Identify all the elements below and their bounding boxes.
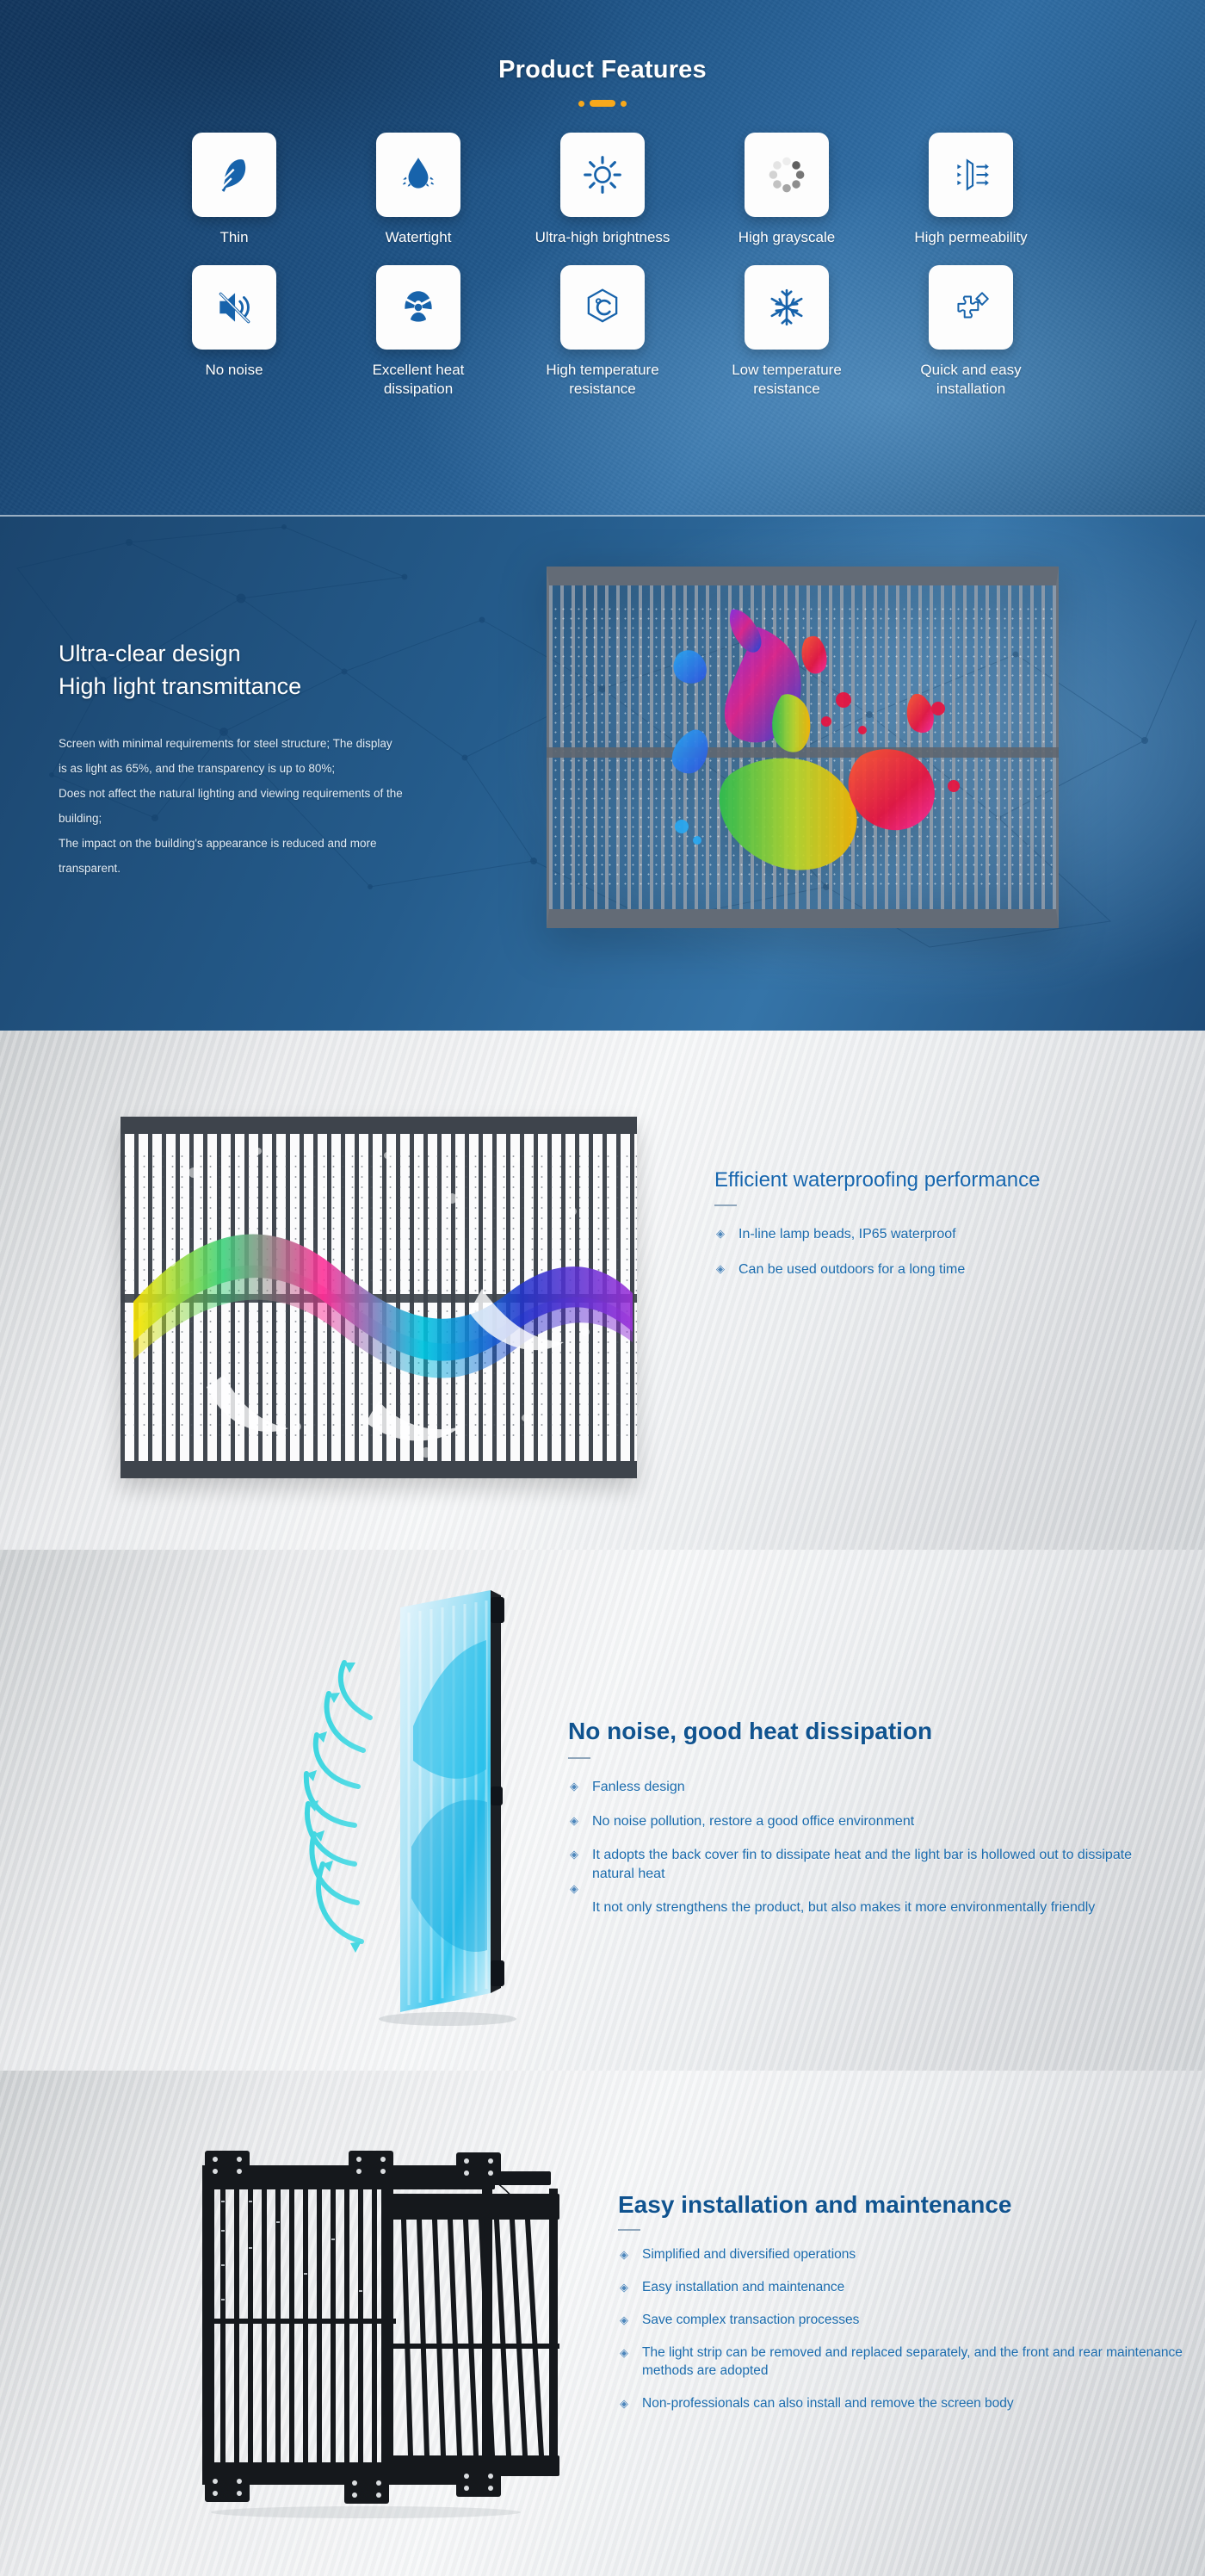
paint-splash-graphic bbox=[628, 601, 998, 898]
feature-card bbox=[192, 265, 276, 350]
list-item: ◈ Save complex transaction processes bbox=[618, 2312, 1186, 2330]
bullet-text: Easy installation and maintenance bbox=[642, 2280, 844, 2294]
title-decoration bbox=[0, 100, 1205, 107]
body-line: The impact on the building's appearance … bbox=[59, 831, 575, 856]
led-cabinet-frame bbox=[172, 2118, 559, 2523]
feature-card bbox=[745, 265, 829, 350]
celsius-hexagon-icon bbox=[581, 286, 624, 329]
feature-label: High permeability bbox=[914, 228, 1027, 246]
installation-text-block: Easy installation and maintenance ◈ Simp… bbox=[618, 2191, 1186, 2428]
list-item: ◈ Easy installation and maintenance bbox=[618, 2279, 1186, 2297]
ultra-clear-heading-line1: Ultra-clear design bbox=[59, 637, 575, 670]
feature-label: High temperature resistance bbox=[528, 361, 678, 398]
diamond-bullet-icon: ◈ bbox=[570, 1881, 578, 1897]
feature-item-high-grayscale[interactable]: High grayscale bbox=[695, 133, 879, 246]
puzzle-piece-icon bbox=[949, 286, 992, 329]
feature-label: High grayscale bbox=[738, 228, 835, 246]
feature-item-heat-dissipation[interactable]: Excellent heat dissipation bbox=[326, 265, 510, 398]
feature-card bbox=[929, 265, 1013, 350]
ultra-clear-section: Ultra-clear design High light transmitta… bbox=[0, 515, 1205, 1031]
feature-label: Watertight bbox=[386, 228, 452, 246]
feather-icon bbox=[213, 153, 256, 196]
water-drop-icon bbox=[397, 153, 440, 196]
list-item: ◈ In-line lamp beads, IP65 waterproof bbox=[714, 1225, 1171, 1244]
heat-bullet-list: ◈ Fanless design ◈ No noise pollution, r… bbox=[568, 1778, 1171, 1917]
feature-item-ultra-high-brightness[interactable]: Ultra-high brightness bbox=[510, 133, 695, 246]
bullet-text: Non-professionals can also install and r… bbox=[642, 2396, 1014, 2411]
grayscale-dots-icon bbox=[765, 153, 808, 196]
installation-bullet-list: ◈ Simplified and diversified operations … bbox=[618, 2246, 1186, 2413]
feature-card bbox=[376, 265, 460, 350]
feature-label: Low temperature resistance bbox=[712, 361, 862, 398]
waterproof-text-block: Efficient waterproofing performance ◈ In… bbox=[714, 1168, 1171, 1295]
diamond-bullet-icon: ◈ bbox=[570, 1847, 578, 1862]
bullet-text: It adopts the back cover fin to dissipat… bbox=[592, 1848, 1132, 1881]
diamond-bullet-icon: ◈ bbox=[570, 1779, 578, 1794]
list-item: ◈ It adopts the back cover fin to dissip… bbox=[568, 1846, 1171, 1883]
feature-card bbox=[929, 133, 1013, 217]
bullet-text: Fanless design bbox=[592, 1780, 685, 1794]
bullet-text: In-line lamp beads, IP65 waterproof bbox=[738, 1227, 956, 1242]
installation-heading: Easy installation and maintenance bbox=[618, 2191, 1186, 2219]
feature-grid: Thin Watertight bbox=[142, 133, 1063, 398]
list-item: ◈ Non-professionals can also install and… bbox=[618, 2395, 1186, 2413]
feature-item-low-temp-resistance[interactable]: Low temperature resistance bbox=[695, 265, 879, 398]
heat-radiation-icon bbox=[397, 286, 440, 329]
bullet-text: Save complex transaction processes bbox=[642, 2313, 859, 2327]
diamond-bullet-icon: ◈ bbox=[620, 2345, 628, 2361]
ultra-clear-text-block: Ultra-clear design High light transmitta… bbox=[59, 637, 575, 881]
feature-item-high-permeability[interactable]: High permeability bbox=[879, 133, 1063, 246]
installation-section: Easy installation and maintenance ◈ Simp… bbox=[0, 2071, 1205, 2576]
feature-item-thin[interactable]: Thin bbox=[142, 133, 326, 246]
installation-product-image bbox=[172, 2118, 559, 2523]
list-item: ◈ Fanless design bbox=[568, 1778, 1171, 1797]
body-line: Does not affect the natural lighting and… bbox=[59, 781, 575, 806]
bullet-text: Can be used outdoors for a long time bbox=[738, 1262, 965, 1277]
diamond-bullet-icon: ◈ bbox=[620, 2247, 628, 2263]
heat-dissipation-section: No noise, good heat dissipation ◈ Fanles… bbox=[0, 1550, 1205, 2071]
waterproof-bullet-list: ◈ In-line lamp beads, IP65 waterproof ◈ … bbox=[714, 1225, 1171, 1279]
feature-item-quick-installation[interactable]: Quick and easy installation bbox=[879, 265, 1063, 398]
bullet-text: Simplified and diversified operations bbox=[642, 2247, 856, 2262]
feature-label: No noise bbox=[205, 361, 263, 379]
feature-label: Thin bbox=[219, 228, 248, 246]
list-item: ◈ Simplified and diversified operations bbox=[618, 2246, 1186, 2264]
feature-item-no-noise[interactable]: No noise bbox=[142, 265, 326, 398]
heading-underline bbox=[568, 1757, 590, 1759]
ultra-clear-heading-line2: High light transmittance bbox=[59, 670, 575, 703]
diamond-bullet-icon: ◈ bbox=[716, 1226, 725, 1242]
feature-card bbox=[376, 133, 460, 217]
waterproof-product-image bbox=[120, 1117, 637, 1478]
list-item: ◈ No noise pollution, restore a good off… bbox=[568, 1812, 1171, 1831]
list-item: ◈ Can be used outdoors for a long time bbox=[714, 1260, 1171, 1279]
diamond-bullet-icon: ◈ bbox=[620, 2396, 628, 2412]
body-line: transparent. bbox=[59, 856, 575, 881]
product-features-page: Product Features Thin bbox=[0, 0, 1205, 2576]
diamond-bullet-icon: ◈ bbox=[620, 2280, 628, 2295]
heat-product-image bbox=[275, 1588, 585, 2028]
feature-card bbox=[560, 133, 645, 217]
feature-card bbox=[192, 133, 276, 217]
bullet-text: No noise pollution, restore a good offic… bbox=[592, 1814, 914, 1829]
heading-underline bbox=[714, 1204, 737, 1206]
feature-card bbox=[560, 265, 645, 350]
angled-led-panel-with-airflow bbox=[275, 1588, 585, 2028]
diamond-bullet-icon: ◈ bbox=[570, 1813, 578, 1829]
waterproof-section: Efficient waterproofing performance ◈ In… bbox=[0, 1031, 1205, 1550]
waterproof-heading: Efficient waterproofing performance bbox=[714, 1168, 1171, 1192]
feature-label: Ultra-high brightness bbox=[535, 228, 670, 246]
feature-item-high-temp-resistance[interactable]: High temperature resistance bbox=[510, 265, 695, 398]
muted-speaker-icon bbox=[213, 286, 256, 329]
feature-item-watertight[interactable]: Watertight bbox=[326, 133, 510, 246]
feature-label: Quick and easy installation bbox=[896, 361, 1047, 398]
heading-underline bbox=[618, 2229, 640, 2231]
list-item: ◈ The light strip can be removed and rep… bbox=[618, 2344, 1186, 2381]
heat-text-block: No noise, good heat dissipation ◈ Fanles… bbox=[568, 1718, 1171, 1933]
transparent-led-mesh-screen-image bbox=[547, 567, 1059, 928]
feature-card bbox=[745, 133, 829, 217]
rainbow-wave-and-water-splash bbox=[120, 1117, 637, 1478]
product-features-section: Product Features Thin bbox=[0, 0, 1205, 515]
permeability-arrows-icon bbox=[949, 153, 992, 196]
feature-label: Excellent heat dissipation bbox=[343, 361, 494, 398]
deco-bar bbox=[590, 100, 615, 107]
body-line: Screen with minimal requirements for ste… bbox=[59, 731, 575, 756]
diamond-bullet-icon: ◈ bbox=[620, 2313, 628, 2328]
bullet-text: The light strip can be removed and repla… bbox=[642, 2345, 1183, 2378]
body-line: is as light as 65%, and the transparency… bbox=[59, 756, 575, 781]
page-title: Product Features bbox=[0, 0, 1205, 84]
deco-dot-right bbox=[621, 101, 627, 107]
bullet-text: It not only strengthens the product, but… bbox=[592, 1900, 1095, 1915]
snowflake-icon bbox=[765, 286, 808, 329]
sun-brightness-icon bbox=[581, 153, 624, 196]
heat-heading: No noise, good heat dissipation bbox=[568, 1718, 1171, 1745]
body-line: building; bbox=[59, 806, 575, 831]
ultra-clear-body: Screen with minimal requirements for ste… bbox=[59, 731, 575, 881]
deco-dot-left bbox=[578, 101, 584, 107]
list-item: ◈ It not only strengthens the product, b… bbox=[568, 1898, 1171, 1917]
diamond-bullet-icon: ◈ bbox=[716, 1261, 725, 1277]
